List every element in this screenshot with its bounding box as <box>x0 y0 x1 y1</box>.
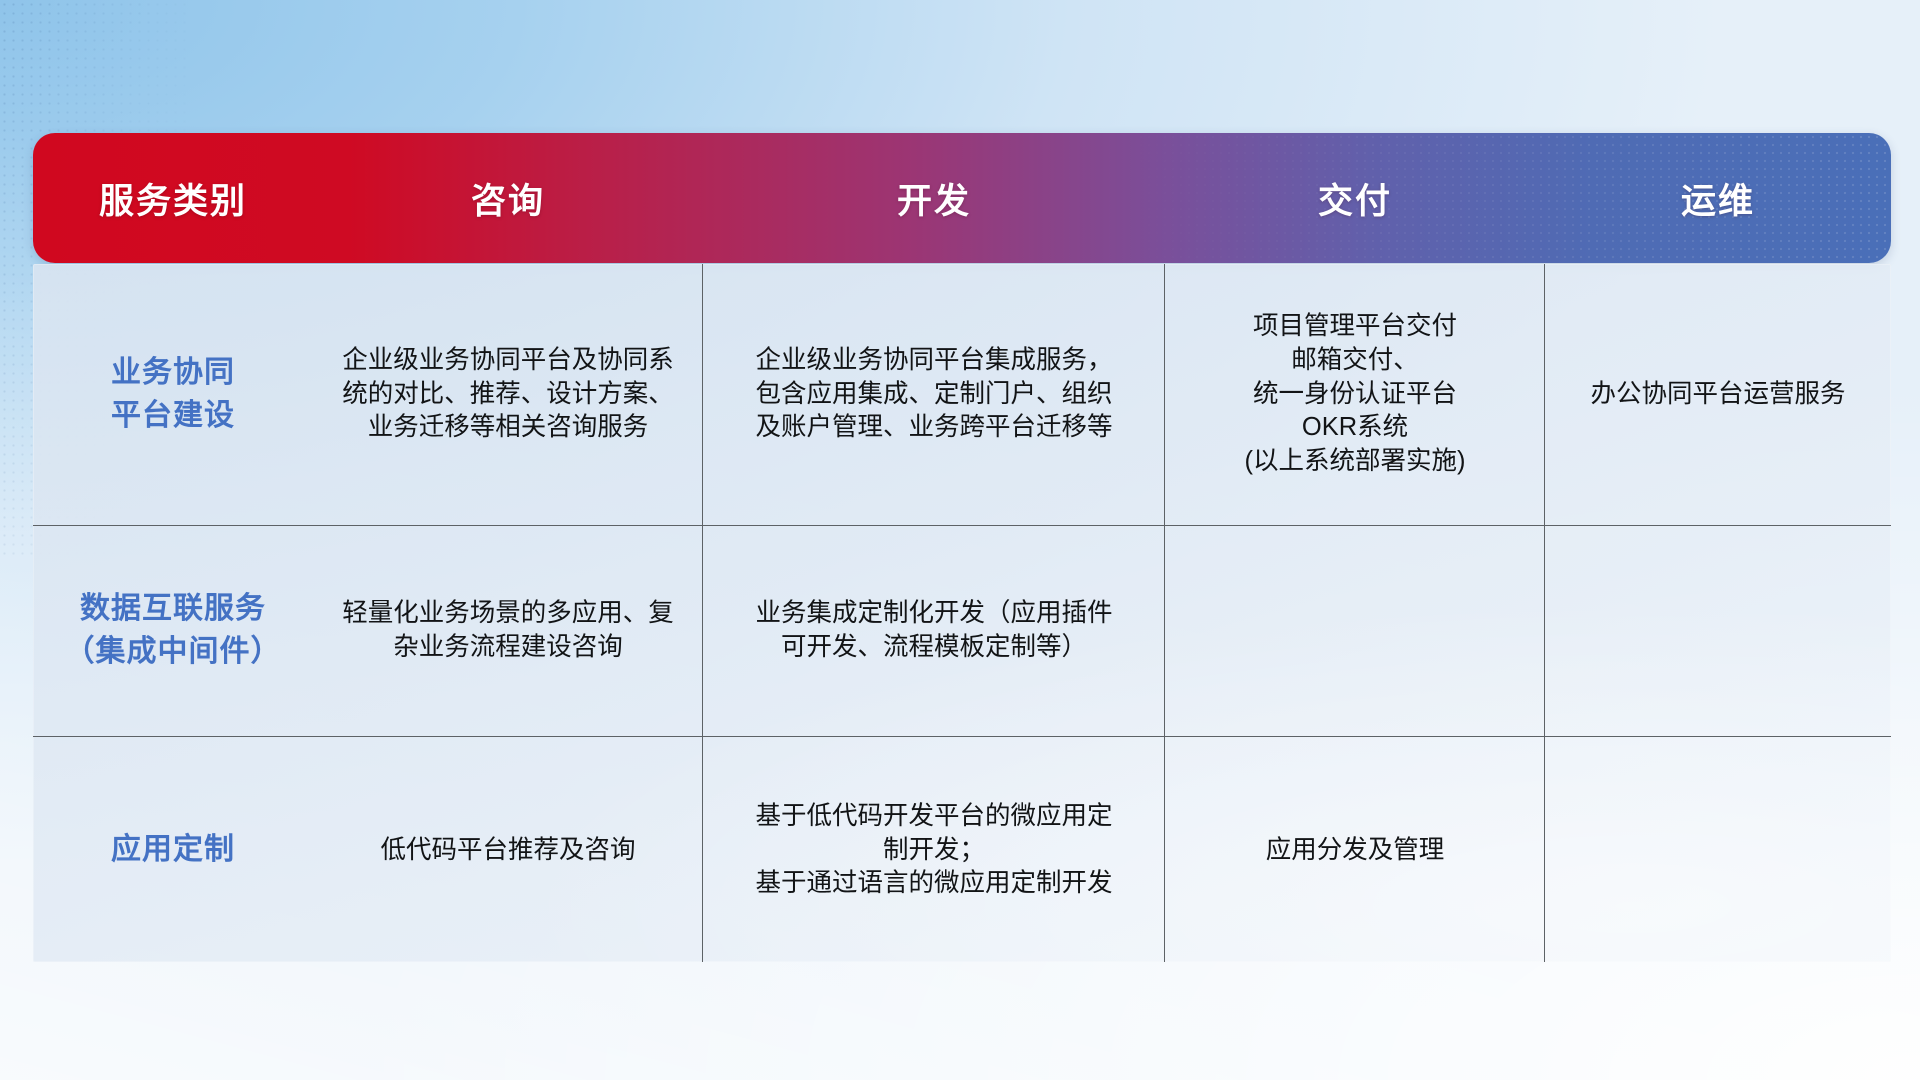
table-body: 业务协同 平台建设 企业级业务协同平台及协同系 统的对比、推荐、设计方案、 业务… <box>33 264 1891 962</box>
cell-row2-consulting: 轻量化业务场景的多应用、复 杂业务流程建设咨询 <box>313 526 703 736</box>
cell-row1-operations: 办公协同平台运营服务 <box>1545 264 1891 525</box>
table-header-row: 服务类别 咨询 开发 交付 运维 <box>33 133 1891 263</box>
table-row: 业务协同 平台建设 企业级业务协同平台及协同系 统的对比、推荐、设计方案、 业务… <box>33 264 1891 526</box>
table-row: 数据互联服务 （集成中间件） 轻量化业务场景的多应用、复 杂业务流程建设咨询 业… <box>33 526 1891 737</box>
cell-row2-operations <box>1545 526 1891 736</box>
cell-row2-development: 业务集成定制化开发（应用插件 可开发、流程模板定制等） <box>703 526 1165 736</box>
column-header-consulting: 咨询 <box>313 173 703 224</box>
cell-row1-consulting: 企业级业务协同平台及协同系 统的对比、推荐、设计方案、 业务迁移等相关咨询服务 <box>313 264 703 525</box>
cell-row3-delivery: 应用分发及管理 <box>1165 737 1545 962</box>
table-row: 应用定制 低代码平台推荐及咨询 基于低代码开发平台的微应用定 制开发； 基于通过… <box>33 737 1891 962</box>
cell-row3-consulting: 低代码平台推荐及咨询 <box>313 737 703 962</box>
column-header-operations: 运维 <box>1545 173 1891 224</box>
column-header-category: 服务类别 <box>33 173 313 224</box>
cell-row1-development: 企业级业务协同平台集成服务， 包含应用集成、定制门户、组织 及账户管理、业务跨平… <box>703 264 1165 525</box>
column-header-development: 开发 <box>703 173 1165 224</box>
row-label-application-customization: 应用定制 <box>33 737 313 962</box>
row-label-business-collaboration: 业务协同 平台建设 <box>33 264 313 525</box>
cell-row1-delivery: 项目管理平台交付 邮箱交付、 统一身份认证平台 OKR系统 (以上系统部署实施) <box>1165 264 1545 525</box>
cell-row3-development: 基于低代码开发平台的微应用定 制开发； 基于通过语言的微应用定制开发 <box>703 737 1165 962</box>
cell-row2-delivery <box>1165 526 1545 736</box>
row-label-data-interconnection: 数据互联服务 （集成中间件） <box>33 526 313 736</box>
service-category-table: 服务类别 咨询 开发 交付 运维 业务协同 平台建设 企业级业务协同平台及协同系… <box>33 133 1891 963</box>
cell-row3-operations <box>1545 737 1891 962</box>
column-header-delivery: 交付 <box>1165 173 1545 224</box>
